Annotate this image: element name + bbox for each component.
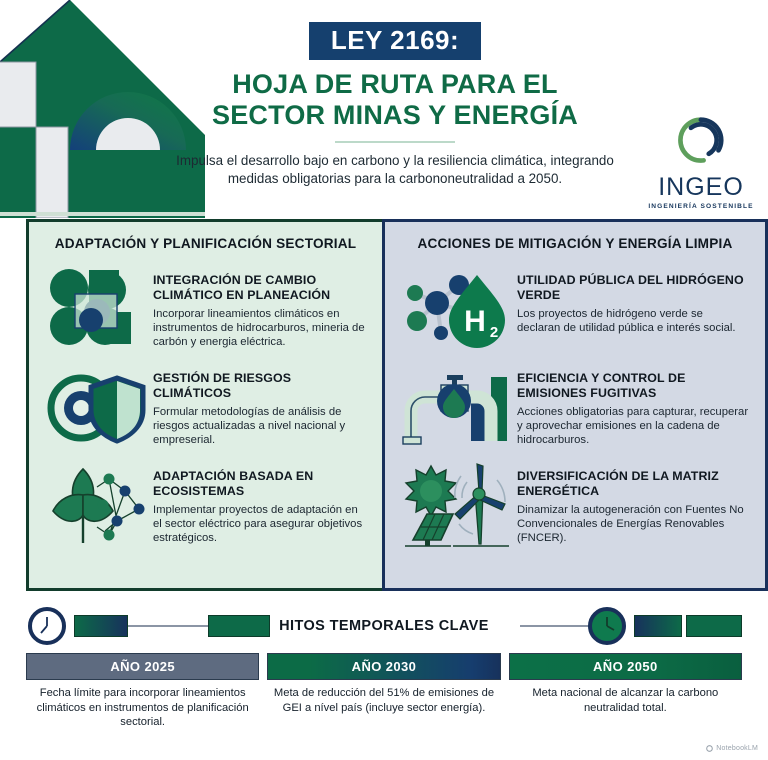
- watermark-label: NotebookLM: [716, 745, 758, 752]
- year-note-2025: Fecha límite para incorporar lineamiento…: [26, 686, 259, 730]
- list-item: GESTIÓN DE RIESGOS CLIMÁTICOS Formular m…: [45, 365, 366, 449]
- timeline-notes: Fecha límite para incorporar lineamiento…: [26, 686, 742, 730]
- leaf-network-icon: [45, 463, 149, 547]
- list-item: INTEGRACIÓN DE CAMBIO CLIMÁTICO EN PLANE…: [45, 267, 366, 351]
- list-item-desc: Los proyectos de hidrógeno verde se decl…: [517, 307, 749, 335]
- hydrogen-symbol: H: [464, 305, 486, 338]
- overlapping-circles-squares-icon: [45, 267, 149, 351]
- list-item: EFICIENCIA Y CONTROL DE EMISIONES FUGITI…: [401, 365, 749, 449]
- title-divider: [335, 141, 455, 143]
- watermark: NotebookLM: [706, 745, 758, 752]
- page-title-line2: SECTOR MINAS Y ENERGÍA: [170, 100, 620, 130]
- timeline-header: HITOS TEMPORALES CLAVE: [26, 604, 742, 648]
- ingeo-logo-mark: [673, 116, 729, 168]
- year-bar-2025[interactable]: AÑO 2025: [26, 653, 259, 680]
- list-item-title: UTILIDAD PÚBLICA DEL HIDRÓGENO VERDE: [517, 273, 749, 303]
- list-item-title: INTEGRACIÓN DE CAMBIO CLIMÁTICO EN PLANE…: [153, 273, 366, 303]
- page-title-line1: HOJA DE RUTA PARA EL: [170, 69, 620, 99]
- target-shield-icon: [45, 365, 149, 449]
- timeline-chip-3: [634, 615, 682, 637]
- header-text-block: LEY 2169: HOJA DE RUTA PARA EL SECTOR MI…: [170, 22, 620, 188]
- list-item-desc: Formular metodologías de análisis de rie…: [153, 405, 366, 448]
- list-item-text: ADAPTACIÓN BASADA EN ECOSISTEMAS Impleme…: [149, 463, 366, 545]
- law-badge: LEY 2169:: [309, 22, 481, 60]
- panel-left-heading: ADAPTACIÓN Y PLANIFICACIÓN SECTORIAL: [45, 236, 366, 253]
- panel-right-heading: ACCIONES DE MITIGACIÓN Y ENERGÍA LIMPIA: [401, 236, 749, 253]
- notebooklm-icon: [706, 745, 713, 752]
- pipeline-valve-chart-icon: [401, 365, 513, 449]
- hydrogen-subscript: 2: [490, 324, 498, 341]
- infographic-page: LEY 2169: HOJA DE RUTA PARA EL SECTOR MI…: [0, 0, 768, 760]
- header-subtitle: Impulsa el desarrollo bajo en carbono y …: [170, 152, 620, 188]
- list-item: DIVERSIFICACIÓN DE LA MATRIZ ENERGÉTICA …: [401, 463, 749, 547]
- list-item-title: DIVERSIFICACIÓN DE LA MATRIZ ENERGÉTICA: [517, 469, 749, 499]
- content-panels: ADAPTACIÓN Y PLANIFICACIÓN SECTORIAL: [26, 219, 768, 591]
- ingeo-logo: INGEO INGENIERÍA SOSTENIBLE: [642, 116, 760, 210]
- list-item-text: DIVERSIFICACIÓN DE LA MATRIZ ENERGÉTICA …: [513, 463, 749, 545]
- header: LEY 2169: HOJA DE RUTA PARA EL SECTOR MI…: [0, 0, 768, 218]
- year-note-2050: Meta nacional de alcanzar la carbono neu…: [509, 686, 742, 730]
- list-item-title: GESTIÓN DE RIESGOS CLIMÁTICOS: [153, 371, 366, 401]
- timeline-year-bars: AÑO 2025 AÑO 2030 AÑO 2050: [26, 653, 742, 680]
- year-bar-2030[interactable]: AÑO 2030: [267, 653, 500, 680]
- list-item: ADAPTACIÓN BASADA EN ECOSISTEMAS Impleme…: [45, 463, 366, 547]
- clock-icon-end: [588, 607, 626, 645]
- year-note-2030: Meta de reducción del 51% de emisiones d…: [267, 686, 500, 730]
- list-item-title: ADAPTACIÓN BASADA EN ECOSISTEMAS: [153, 469, 366, 499]
- list-item-desc: Acciones obligatorias para capturar, rec…: [517, 405, 749, 448]
- page-title: HOJA DE RUTA PARA EL SECTOR MINAS Y ENER…: [170, 69, 620, 129]
- list-item-text: INTEGRACIÓN DE CAMBIO CLIMÁTICO EN PLANE…: [149, 267, 366, 349]
- solar-wind-icon: [401, 463, 513, 547]
- list-item-desc: Incorporar lineamientos climáticos en in…: [153, 307, 366, 350]
- list-item-text: EFICIENCIA Y CONTROL DE EMISIONES FUGITI…: [513, 365, 749, 447]
- hydrogen-molecule-droplet-icon: H 2: [401, 267, 513, 351]
- panel-mitigacion: ACCIONES DE MITIGACIÓN Y ENERGÍA LIMPIA: [382, 219, 768, 591]
- list-item-desc: Dinamizar la autogeneración con Fuentes …: [517, 503, 749, 546]
- panel-adaptacion: ADAPTACIÓN Y PLANIFICACIÓN SECTORIAL: [26, 219, 382, 591]
- year-bar-2050[interactable]: AÑO 2050: [509, 653, 742, 680]
- list-item: H 2 UTILIDAD PÚBLICA DEL HIDRÓGENO VERDE…: [401, 267, 749, 351]
- timeline-chip-4: [686, 615, 742, 637]
- list-item-desc: Implementar proyectos de adaptación en e…: [153, 503, 366, 546]
- logo-wordmark: INGEO: [642, 175, 760, 200]
- logo-tagline: INGENIERÍA SOSTENIBLE: [642, 203, 760, 210]
- list-item-text: GESTIÓN DE RIESGOS CLIMÁTICOS Formular m…: [149, 365, 366, 447]
- list-item-title: EFICIENCIA Y CONTROL DE EMISIONES FUGITI…: [517, 371, 749, 401]
- list-item-text: UTILIDAD PÚBLICA DEL HIDRÓGENO VERDE Los…: [513, 267, 749, 335]
